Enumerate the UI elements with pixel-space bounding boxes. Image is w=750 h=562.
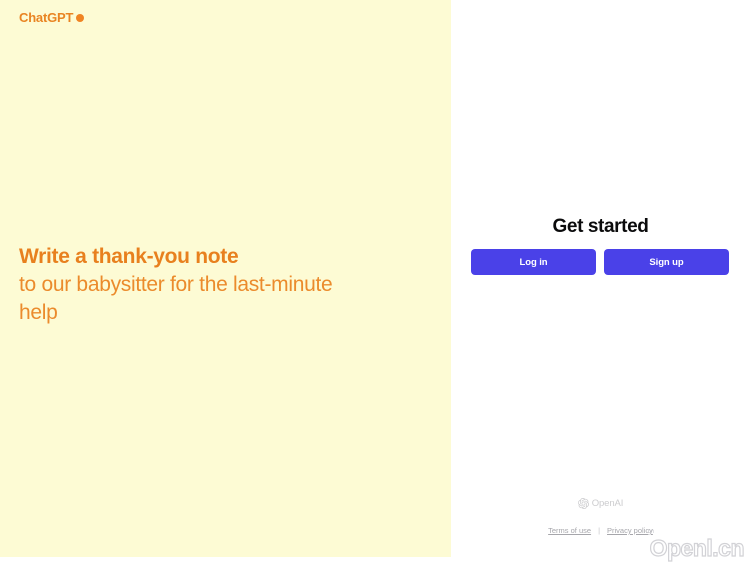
- promo-panel: ChatGPT Write a thank-you note to our ba…: [0, 0, 451, 557]
- promo-text: Write a thank-you note to our babysitter…: [19, 243, 419, 327]
- openai-logo-icon: [578, 498, 589, 509]
- openai-badge: OpenAI: [578, 498, 624, 509]
- openl-watermark: Openl.cn: [650, 537, 744, 560]
- chatgpt-wordmark: ChatGPT: [19, 11, 73, 24]
- login-button[interactable]: Log in: [471, 249, 596, 275]
- landing-page: ChatGPT Write a thank-you note to our ba…: [0, 0, 750, 562]
- promo-line-1: Write a thank-you note: [19, 243, 419, 271]
- footer-link-separator: |: [598, 526, 600, 535]
- footer-links: Terms of use | Privacy policy: [548, 526, 653, 535]
- footer: OpenAI Terms of use | Privacy policy: [451, 498, 750, 535]
- signup-button[interactable]: Sign up: [604, 249, 729, 275]
- terms-of-use-link[interactable]: Terms of use: [548, 526, 591, 535]
- promo-line-2: to our babysitter for the last-minute: [19, 271, 419, 299]
- chatgpt-brand-logo[interactable]: ChatGPT: [19, 11, 84, 24]
- auth-panel: Get started Log in Sign up OpenAI Terms …: [451, 0, 750, 562]
- orange-dot-icon: [76, 14, 84, 22]
- get-started-heading: Get started: [451, 216, 750, 238]
- auth-button-group: Log in Sign up: [471, 249, 730, 275]
- promo-line-3: help: [19, 299, 419, 327]
- privacy-policy-link[interactable]: Privacy policy: [607, 526, 653, 535]
- openai-label: OpenAI: [592, 499, 624, 509]
